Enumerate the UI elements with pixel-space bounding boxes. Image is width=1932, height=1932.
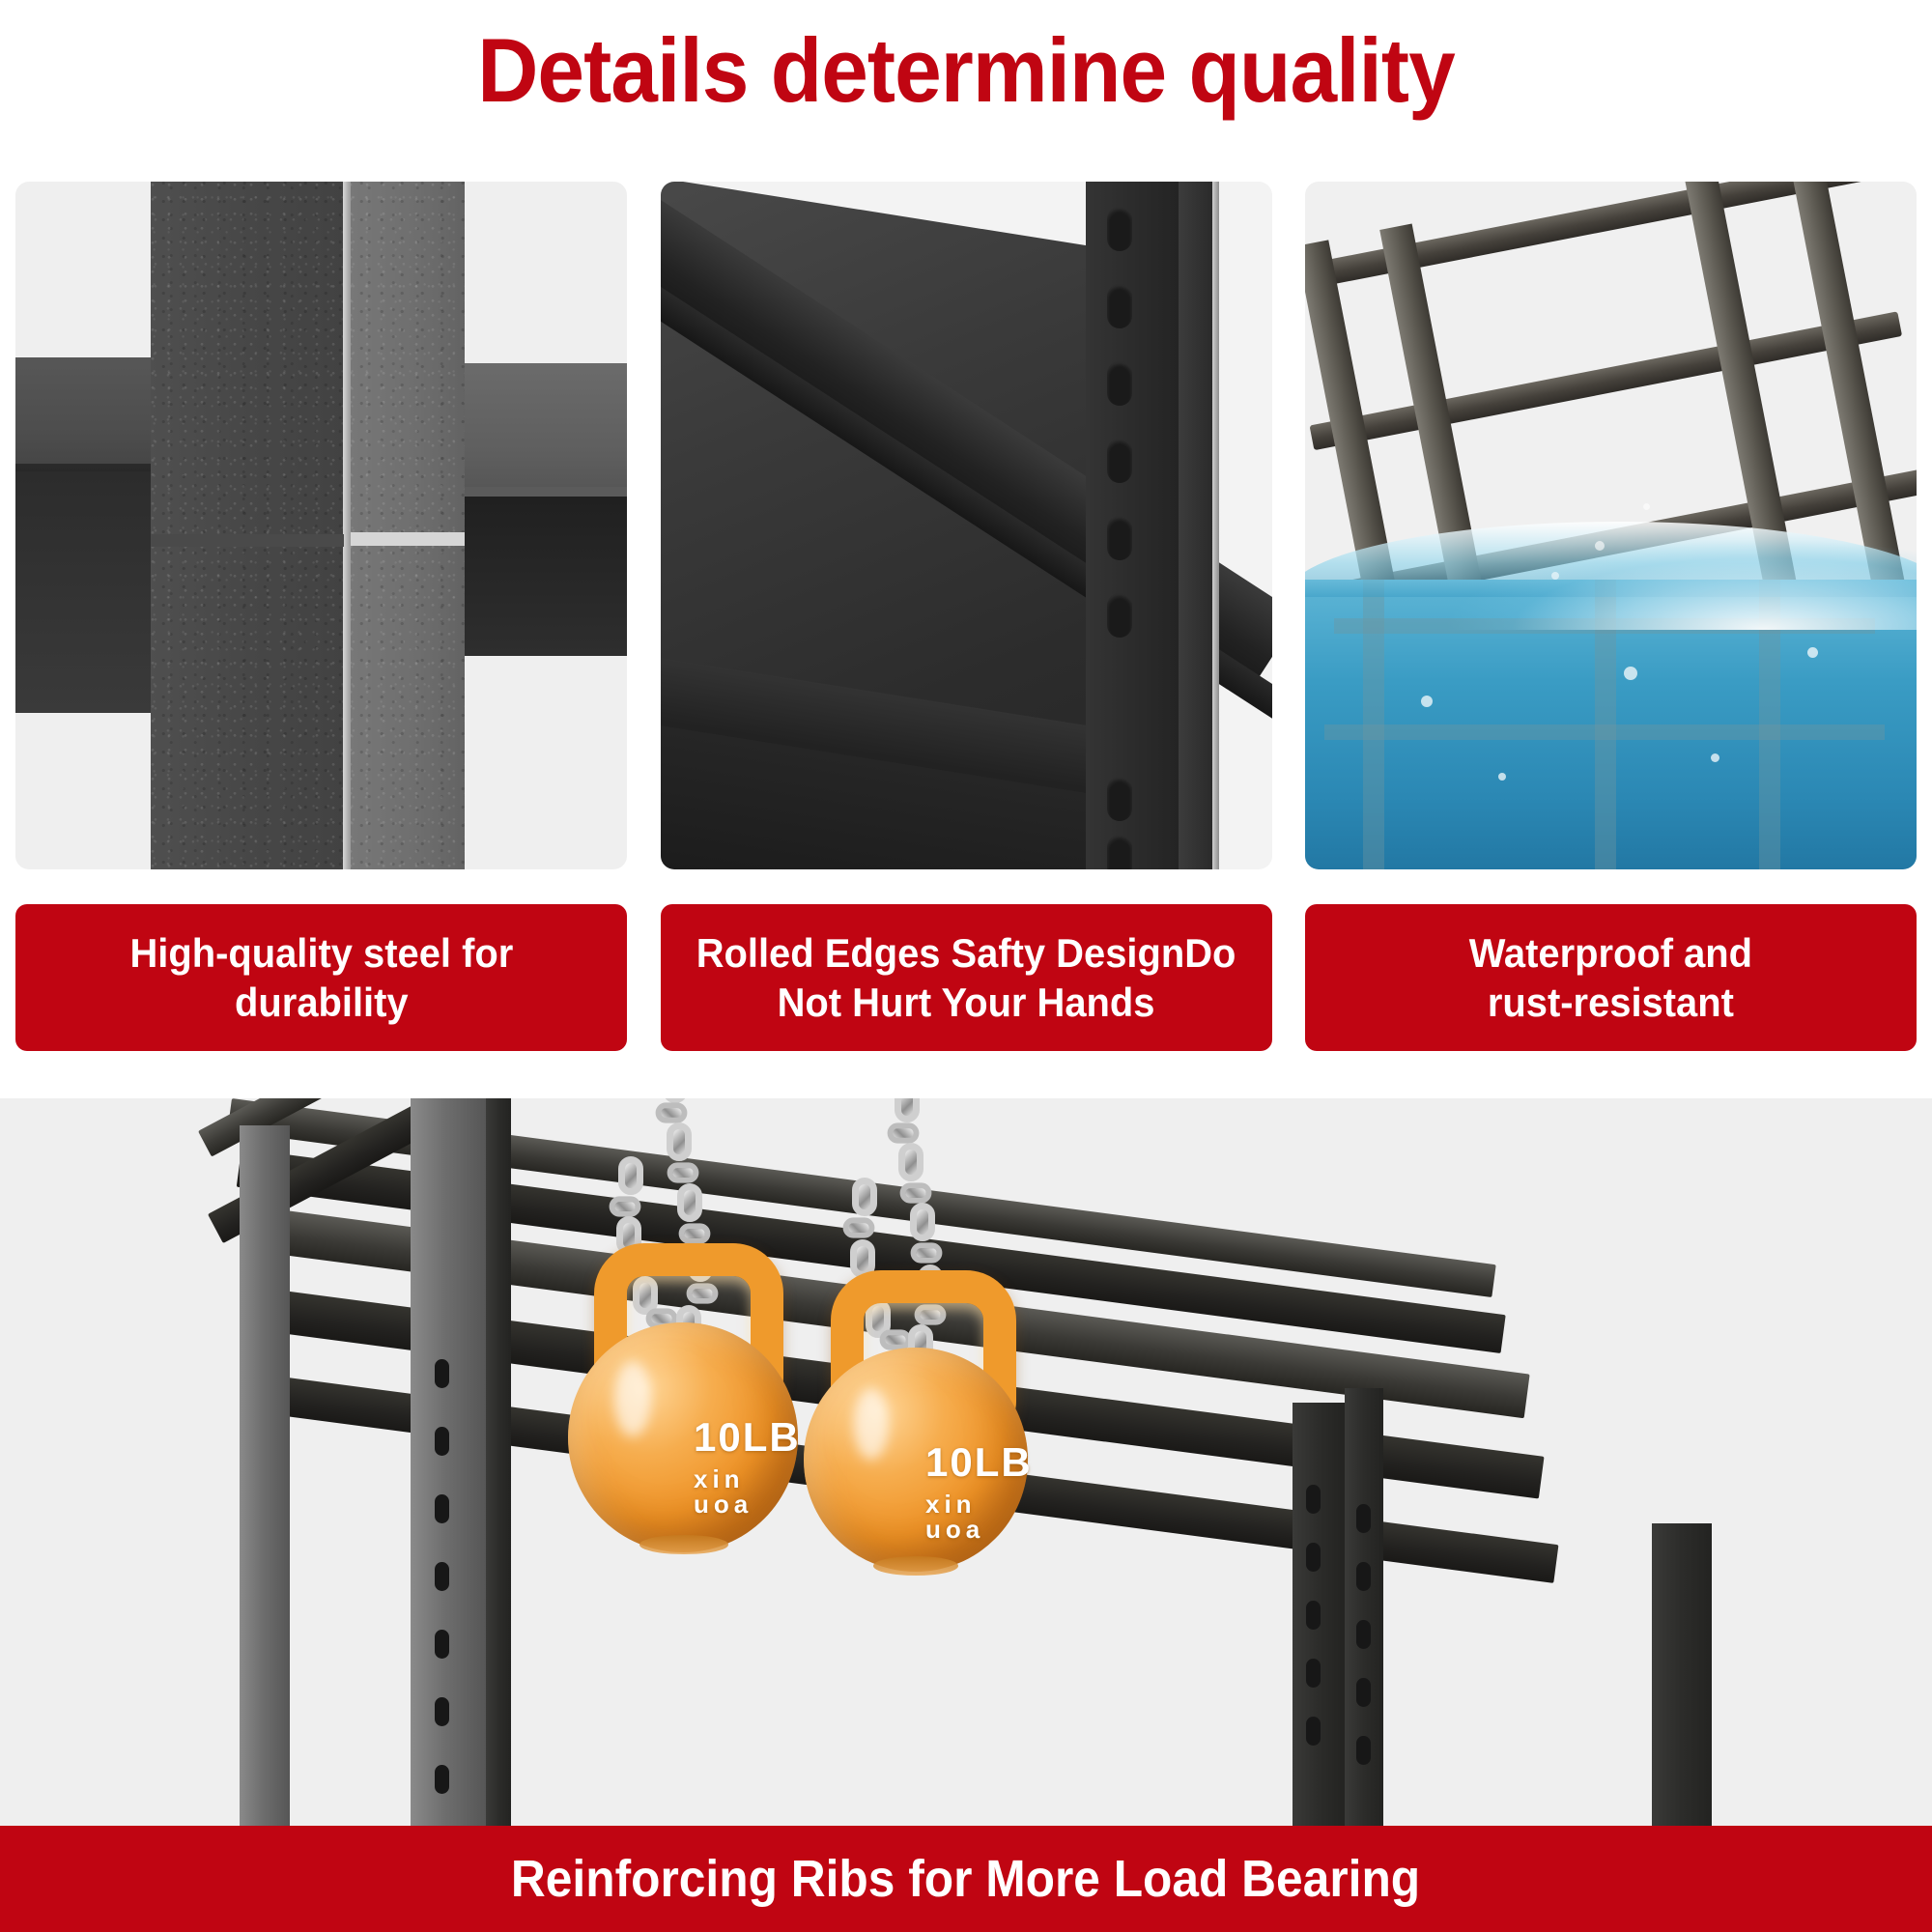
keyhole-slot	[1306, 1543, 1321, 1572]
water-splash	[1305, 514, 1917, 630]
keyhole-slot	[435, 1630, 449, 1659]
weld-seam	[343, 182, 351, 869]
chain-link	[910, 1203, 935, 1241]
rack-rear-left-upright	[240, 1125, 290, 1826]
keyhole-slot	[1107, 777, 1132, 821]
right-shelf-shadow	[455, 487, 627, 656]
bubble	[1624, 667, 1637, 680]
load-bearing-photo: 10LB xin uoa	[0, 1098, 1932, 1826]
chain-link	[898, 1143, 923, 1181]
rack-front-left-post-edge	[486, 1098, 511, 1826]
rolled-edge-photo	[661, 182, 1272, 869]
rolled-edge-highlight	[1212, 182, 1219, 869]
keyhole-slot	[435, 1562, 449, 1591]
kettlebell-label: 10LB xin uoa	[694, 1417, 801, 1517]
chain-link	[677, 1183, 702, 1222]
keyhole-slot	[1356, 1620, 1371, 1649]
steel-joint-photo	[15, 182, 627, 869]
keyhole-slot	[1356, 1562, 1371, 1591]
keyhole-slot	[1107, 361, 1132, 406]
keyhole-slot	[435, 1427, 449, 1456]
kettlebell-base	[873, 1556, 958, 1576]
kettlebell-highlight	[854, 1388, 889, 1460]
kettlebell-weight-text: 10LB	[925, 1442, 1033, 1483]
bubble	[1807, 647, 1818, 658]
chain-link	[618, 1156, 643, 1195]
card-caption: Rolled Edges Safty DesignDo Not Hurt You…	[661, 904, 1272, 1051]
joint-gap-light	[351, 532, 465, 546]
left-shelf-shadow	[15, 471, 160, 713]
bottom-banner-text: Reinforcing Ribs for More Load Bearing	[511, 1849, 1420, 1909]
kettlebell-weight-text: 10LB	[694, 1417, 801, 1458]
caption-line-2: rust-resistant	[1469, 978, 1752, 1027]
keyhole-slot	[1306, 1485, 1321, 1514]
chain-link	[667, 1122, 692, 1161]
post-dark-face	[151, 182, 349, 869]
joint-gap-dark	[151, 534, 344, 547]
chain-link	[656, 1102, 688, 1122]
kettlebell-label: 10LB xin uoa	[925, 1442, 1033, 1542]
rack-front-right-post	[1652, 1523, 1712, 1826]
infographic-page: Details determine quality High-quality s…	[0, 0, 1932, 1932]
upright-post-face	[1179, 182, 1213, 869]
keyhole-slot	[1356, 1678, 1371, 1707]
keyhole-slot	[1107, 516, 1132, 560]
chain-link	[610, 1196, 641, 1216]
keyhole-slot	[435, 1697, 449, 1726]
bubble	[1421, 696, 1433, 707]
caption-line-1: High-quality steel for	[129, 928, 513, 978]
caption-line-1: Rolled Edges Safty DesignDo	[696, 928, 1236, 978]
upright-post	[1086, 182, 1179, 869]
chain-link	[900, 1182, 932, 1203]
keyhole-slot	[1356, 1736, 1371, 1765]
kettlebell-brand-text: xin uoa	[925, 1492, 1033, 1542]
chain-link	[843, 1217, 875, 1237]
chain-link	[911, 1242, 943, 1263]
keyhole-slot	[435, 1494, 449, 1523]
keyhole-slot	[1356, 1504, 1371, 1533]
card-caption: High-quality steel for durability	[15, 904, 627, 1051]
caption-line-1: Waterproof and	[1469, 928, 1752, 978]
feature-card-high-quality-steel: High-quality steel for durability	[15, 182, 627, 1051]
kettlebell-highlight	[614, 1361, 651, 1436]
feature-card-waterproof: Waterproof and rust-resistant	[1305, 182, 1917, 1051]
chain-link	[888, 1122, 920, 1143]
keyhole-slot	[1107, 207, 1132, 251]
chain-link	[852, 1178, 877, 1216]
keyhole-slot	[1107, 439, 1132, 483]
keyhole-slot	[1306, 1717, 1321, 1746]
keyhole-slot	[1306, 1601, 1321, 1630]
chain-link	[668, 1162, 699, 1182]
bubble	[1498, 773, 1506, 781]
bubble	[1711, 753, 1719, 762]
kettlebell-base	[639, 1535, 728, 1554]
keyhole-slot	[435, 1359, 449, 1388]
keyhole-slot	[1107, 593, 1132, 638]
keyhole-slot	[1306, 1659, 1321, 1688]
bottom-banner: Reinforcing Ribs for More Load Bearing	[0, 1826, 1932, 1932]
right-shelf-lip	[455, 487, 627, 497]
feature-card-row: High-quality steel for durability	[15, 182, 1917, 1051]
chain-link	[895, 1098, 920, 1122]
keyhole-slot	[1107, 835, 1132, 869]
keyhole-slot	[435, 1765, 449, 1794]
page-title: Details determine quality	[68, 14, 1864, 128]
caption-line-2: durability	[129, 978, 513, 1027]
caption-line-2: Not Hurt Your Hands	[696, 978, 1236, 1027]
keyhole-slot	[1107, 284, 1132, 328]
waterproof-photo	[1305, 182, 1917, 869]
feature-card-rolled-edges: Rolled Edges Safty DesignDo Not Hurt You…	[661, 182, 1272, 1051]
post-light-face	[349, 182, 465, 869]
card-caption: Waterproof and rust-resistant	[1305, 904, 1917, 1051]
kettlebell-brand-text: xin uoa	[694, 1466, 801, 1517]
chain-link	[679, 1223, 711, 1243]
